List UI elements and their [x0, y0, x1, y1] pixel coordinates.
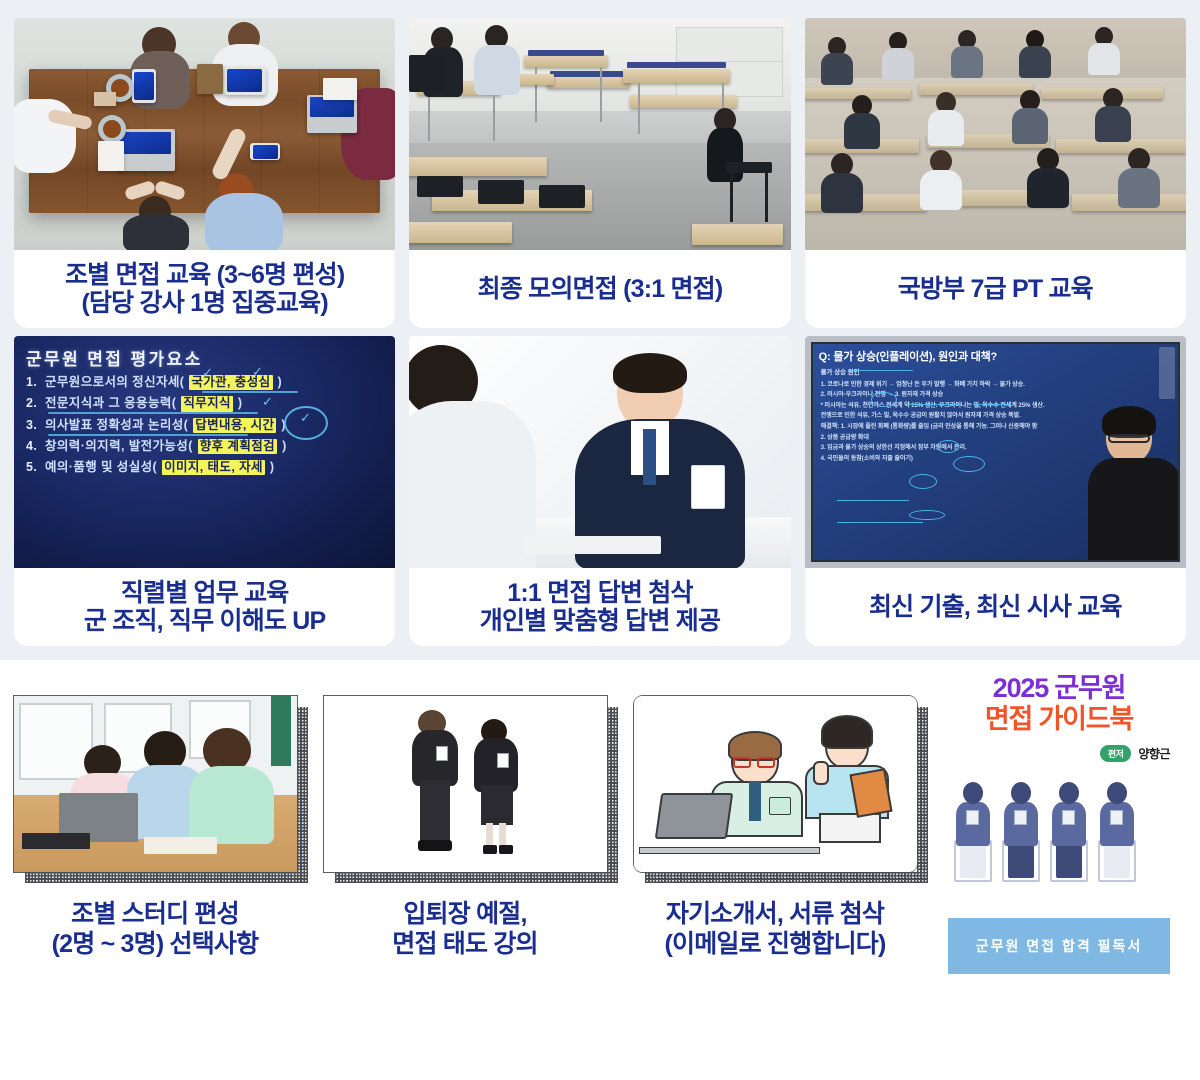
laptop-illustration — [650, 793, 736, 849]
underline-stroke — [48, 434, 248, 436]
student-6 — [843, 95, 881, 147]
caption-line-2: (이메일로 진행합니다) — [665, 929, 886, 959]
item-tail: ) — [278, 375, 283, 390]
book-cover[interactable]: 2025 군무원 면접 가이드북 편저 양향근 — [930, 674, 1188, 974]
caption-line-2: (담당 강사 1명 집중교육) — [81, 289, 327, 317]
seated-person-2 — [1000, 782, 1042, 882]
tablet-upper-left — [132, 69, 156, 103]
caption-mnd-grade7-pt-training: 국방부 7급 PT 교육 — [805, 250, 1186, 328]
notebook-white — [98, 141, 124, 171]
caption-job-specific-training: 직렬별 업무 교육 군 조직, 직무 이해도 UP — [14, 568, 395, 646]
caption-line-1: 조별 스터디 편성 — [52, 899, 259, 929]
underline-stroke — [837, 500, 909, 501]
caption-line-1: 입퇴장 예절, — [392, 899, 538, 929]
window-left — [19, 703, 93, 780]
desk-front-1 — [409, 157, 546, 176]
underline-stroke — [837, 522, 923, 523]
student-10 — [820, 153, 864, 211]
item-highlight: 답변내용, 시간 — [193, 418, 276, 433]
card-resume-review[interactable]: 자기소개서, 서류 첨삭 (이메일로 진행합니다) — [620, 695, 930, 995]
blackboard-item: 5. 예의·품행 및 성실성( 이미지, 태도, 자세 ) — [26, 460, 385, 475]
bottom-card-row: 조별 스터디 편성 (2명 ~ 3명) 선택사항 — [0, 695, 930, 995]
circle-annotation — [937, 440, 959, 453]
chair-interviewer — [409, 55, 443, 92]
caption-bowing-etiquette: 입퇴장 예절, 면접 태도 강의 — [392, 899, 538, 959]
underline-stroke — [202, 391, 298, 393]
underline-stroke — [851, 370, 913, 371]
book-band: 군무원 면접 합격 필독서 — [948, 918, 1170, 974]
check-mark-icon: ✓ — [202, 365, 213, 381]
slide-question: Q: 물가 상승(인플레이션), 원인과 대책? — [813, 344, 1178, 364]
seated-person-4 — [1096, 782, 1138, 882]
student-5 — [1087, 27, 1121, 73]
caption-line-2: 군 조직, 직무 이해도 UP — [84, 607, 325, 635]
caption-group-interview-training: 조별 면접 교육 (3~6명 편성) (담당 강사 1명 집중교육) — [14, 250, 395, 328]
person-bottom-left — [121, 170, 191, 250]
paper-right — [323, 78, 357, 100]
photo-frame — [13, 695, 298, 873]
caption-line-1: 자기소개서, 서류 첨삭 — [665, 899, 886, 929]
slide-line: 1. 코로나로 인한 경제 위기 → 엄청난 돈 우가 발행 → 화폐 가치 하… — [813, 377, 1178, 388]
desk-front-3 — [409, 222, 512, 243]
tablet-top — [224, 67, 266, 95]
book-band-text: 군무원 면접 합격 필독서 — [976, 936, 1142, 956]
caption-line-2: 면접 태도 강의 — [392, 929, 538, 959]
item-highlight: 이미지, 태도, 자세 — [162, 460, 265, 475]
caption-line-1: 조별 면접 교육 (3~6명 편성) — [65, 261, 344, 289]
caption-line-1: 직렬별 업무 교육 — [121, 579, 289, 607]
desk-back-1 — [524, 55, 608, 67]
card-group-interview-training[interactable]: 조별 면접 교육 (3~6명 편성) (담당 강사 1명 집중교육) — [14, 18, 395, 328]
blackboard-item: 4. 창의력·의지력, 발전가능성( 향후 계획점검 ) — [26, 439, 385, 454]
caption-one-on-one-answer-coaching: 1:1 면접 답변 첨삭 개인별 맞춤형 답변 제공 — [409, 568, 790, 646]
underline-stroke — [48, 412, 258, 414]
hair — [613, 353, 687, 393]
student-7 — [927, 92, 965, 144]
item-number: 3. — [26, 418, 40, 433]
photo-lecture-slide-inflation: Q: 물가 상승(인플레이션), 원인과 대책? 물가 상승 원인 1. 코로나… — [805, 336, 1186, 568]
item-tail: ) — [282, 439, 287, 454]
slide-toolbar — [1159, 347, 1175, 399]
hair — [821, 715, 873, 749]
item-number: 2. — [26, 396, 40, 411]
slide-line: 2. 러시아-우크라이나 전쟁 → 3. 원자재 가격 상승 — [813, 388, 1178, 399]
desk-front-4 — [692, 224, 784, 245]
student-12 — [1026, 148, 1070, 206]
laptop-right — [307, 95, 357, 133]
glasses-icon — [757, 757, 775, 768]
person-bottom-right — [205, 163, 283, 250]
card-latest-exam-current-affairs[interactable]: Q: 물가 상승(인플레이션), 원인과 대책? 물가 상승 원인 1. 코로나… — [805, 336, 1186, 646]
caption-final-mock-interview: 최종 모의면접 (3:1 면접) — [409, 250, 790, 328]
photo-row-1: 조별 면접 교육 (3~6명 편성) (담당 강사 1명 집중교육) — [14, 18, 1186, 328]
circle-annotation — [909, 510, 945, 520]
student-13 — [1117, 148, 1161, 206]
book-illustration-seated-candidates — [930, 770, 1188, 882]
photo-study-group-laptop — [14, 696, 297, 872]
card-bowing-etiquette[interactable]: 입퇴장 예절, 면접 태도 강의 — [310, 695, 620, 995]
editor-name: 양향근 — [1138, 745, 1170, 762]
paper-left — [94, 92, 116, 106]
tablet-small — [250, 143, 280, 160]
student-8 — [1011, 90, 1049, 142]
photo-classroom-mock-interview — [409, 18, 790, 250]
card-final-mock-interview[interactable]: 최종 모의면접 (3:1 면접) — [409, 18, 790, 328]
desk-back-3 — [623, 69, 730, 83]
item-text: 의사발표 정확성과 논리성( — [45, 418, 188, 433]
interviewer-male — [474, 25, 520, 95]
photo-one-on-one-interview — [409, 336, 790, 568]
check-mark-icon: ✓ — [300, 410, 311, 426]
book-author-row: 편저 양향근 — [930, 745, 1170, 762]
desk-back-2 — [547, 76, 631, 88]
desk-edge-1 — [528, 50, 604, 56]
item-text: 예의·품행 및 성실성( — [45, 460, 157, 475]
book-title-line-2: 면접 가이드북 — [930, 705, 1188, 734]
underline-stroke — [909, 404, 961, 405]
notebook-brown — [197, 64, 223, 94]
caption-study-group: 조별 스터디 편성 (2명 ~ 3명) 선택사항 — [52, 899, 259, 959]
photo-blackboard-evaluation-criteria: 군무원 면접 평가요소 1. 군무원으로서의 정신자세( 국가관, 충성심 ) … — [14, 336, 395, 568]
blackboard-item: 2. 전문지식과 그 응용능력( 직무지식 ) ✓ — [26, 396, 385, 411]
item-number: 5. — [26, 460, 40, 475]
caption-line-1: 최종 모의면접 (3:1 면접) — [478, 275, 723, 303]
item-number: 4. — [26, 439, 40, 454]
person-bowing-male — [408, 710, 468, 858]
item-tail: ) — [270, 460, 275, 475]
item-text: 전문지식과 그 응용능력( — [45, 396, 176, 411]
seated-person-3 — [1048, 782, 1090, 882]
person-left — [14, 99, 84, 175]
photo-frame — [323, 695, 608, 873]
desk-illustration — [639, 847, 820, 854]
caption-resume-review: 자기소개서, 서류 첨삭 (이메일로 진행합니다) — [665, 899, 886, 959]
student-4 — [1018, 30, 1052, 76]
student-2 — [881, 32, 915, 78]
photo-group-meeting-table-topdown — [14, 18, 395, 250]
circle-annotation — [871, 392, 897, 407]
item-text: 군무원으로서의 정신자세( — [45, 375, 184, 390]
id-card — [691, 465, 725, 509]
interviewer-back-view — [409, 345, 536, 568]
card-job-specific-training[interactable]: 군무원 면접 평가요소 1. 군무원으로서의 정신자세( 국가관, 충성심 ) … — [14, 336, 395, 646]
check-mark-icon: ✓ — [252, 364, 263, 380]
item-highlight: 직무지식 — [181, 396, 233, 411]
folder-icon — [849, 768, 892, 818]
desk-edge-2 — [550, 71, 626, 77]
blackboard-item: 1. 군무원으로서의 정신자세( 국가관, 충성심 ) ✓ ✓ — [26, 375, 385, 390]
illustration-female-thumbs-up — [809, 717, 889, 829]
card-study-group[interactable]: 조별 스터디 편성 (2명 ~ 3명) 선택사항 — [0, 695, 310, 995]
blackboard-item: 3. 의사발표 정확성과 논리성( 답변내용, 시간 ) ✓ — [26, 418, 385, 433]
item-tail: ) — [238, 396, 243, 411]
item-text: 창의력·의지력, 발전가능성( — [45, 439, 193, 454]
person-bowing-female — [471, 719, 529, 857]
slide-surface: Q: 물가 상승(인플레이션), 원인과 대책? 물가 상승 원인 1. 코로나… — [811, 342, 1180, 562]
underline-stroke — [973, 404, 1011, 405]
photo-row-2: 군무원 면접 평가요소 1. 군무원으로서의 정신자세( 국가관, 충성심 ) … — [14, 336, 1186, 646]
caption-line-2: (2명 ~ 3명) 선택사항 — [52, 929, 259, 959]
document-on-table — [524, 536, 661, 555]
curtain — [271, 696, 291, 766]
shelf-row — [676, 27, 783, 62]
caption-latest-exam-current-affairs: 최신 기출, 최신 시사 교육 — [805, 568, 1186, 646]
card-mnd-grade7-pt-training[interactable]: 국방부 7급 PT 교육 — [805, 18, 1186, 328]
item-number: 1. — [26, 375, 40, 390]
student-3 — [950, 30, 984, 76]
student-11 — [919, 150, 963, 208]
book-title-line-1: 2025 군무원 — [930, 674, 1188, 703]
photo-bowing-etiquette — [324, 696, 607, 872]
caption-line-1: 1:1 면접 답변 첨삭 — [507, 579, 692, 607]
bottom-section: 조별 스터디 편성 (2명 ~ 3명) 선택사항 — [0, 660, 1200, 1080]
top-photo-grid: 조별 면접 교육 (3~6명 편성) (담당 강사 1명 집중교육) — [0, 0, 1200, 660]
check-mark-icon: ✓ — [262, 394, 273, 410]
caption-line-1: 국방부 7급 PT 교육 — [898, 275, 1093, 303]
promo-page: 조별 면접 교육 (3~6명 편성) (담당 강사 1명 집중교육) — [0, 0, 1200, 1080]
circle-annotation — [909, 474, 937, 489]
caption-line-1: 최신 기출, 최신 시사 교육 — [869, 593, 1122, 621]
student-9 — [1094, 88, 1132, 140]
thumbs-up-icon — [813, 761, 829, 785]
glasses-icon — [733, 757, 751, 768]
seated-person-1 — [952, 782, 994, 882]
caption-line-2: 개인별 맞춤형 답변 제공 — [480, 607, 720, 635]
circle-annotation — [953, 456, 985, 472]
card-one-on-one-answer-coaching[interactable]: 1:1 면접 답변 첨삭 개인별 맞춤형 답변 제공 — [409, 336, 790, 646]
student-1 — [820, 37, 854, 83]
editor-badge: 편저 — [1100, 745, 1132, 762]
lecturer-figure — [1086, 400, 1180, 560]
photo-frame — [633, 695, 918, 873]
photo-exam-hall-students — [805, 18, 1186, 250]
photo-resume-review-illustration — [634, 696, 917, 872]
desk-edge-3 — [627, 62, 726, 68]
item-highlight: 향후 계획점검 — [198, 439, 277, 454]
laptop-center — [117, 129, 175, 171]
